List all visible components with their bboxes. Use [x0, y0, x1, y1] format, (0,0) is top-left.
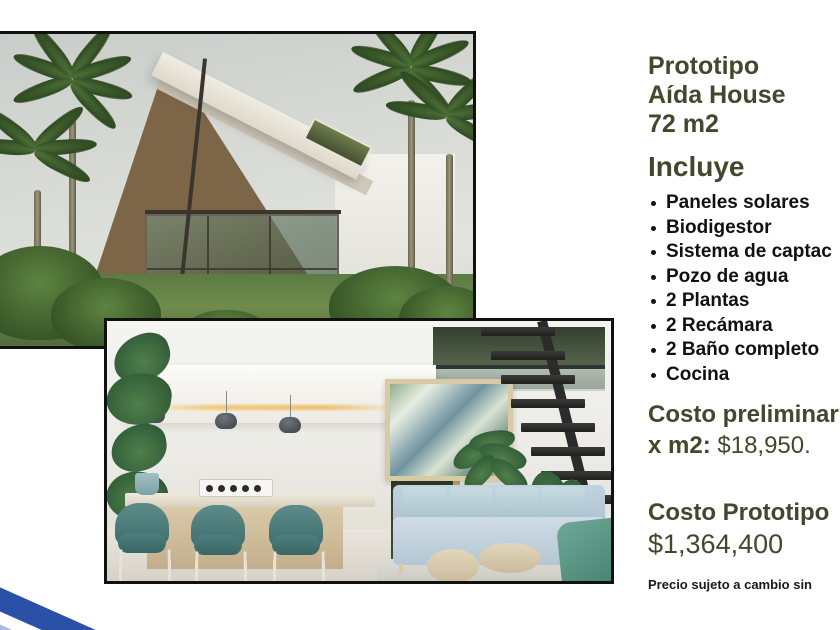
presentation-slide: Prototipo Aída House 72 m2 Incluye Panel…	[0, 0, 840, 630]
prototype-cost-heading: Costo Prototipo	[648, 497, 840, 528]
slide-text-column: Prototipo Aída House 72 m2 Incluye Panel…	[648, 52, 840, 593]
bullet-dot-icon	[651, 250, 656, 255]
prototype-title: Prototipo Aída House 72 m2	[648, 52, 840, 139]
feature-label: 2 Baño completo	[666, 339, 819, 360]
prototype-cost-block: Costo Prototipo $1,364,400	[648, 497, 840, 561]
feature-label: Cocina	[666, 364, 729, 385]
bullet-dot-icon	[651, 324, 656, 329]
list-item: Paneles solares	[648, 191, 840, 216]
title-line-3: 72 m2	[648, 110, 840, 139]
list-item: Pozo de agua	[648, 265, 840, 290]
feature-label: Paneles solares	[666, 192, 810, 213]
bullet-dot-icon	[651, 348, 656, 353]
preliminary-cost-line: x m2: $18,950.	[648, 430, 840, 461]
preliminary-cost-block: Costo preliminar x m2: $18,950.	[648, 399, 840, 461]
list-item: 2 Recámara	[648, 314, 840, 339]
list-item: Biodigestor	[648, 216, 840, 241]
list-item: 2 Plantas	[648, 289, 840, 314]
preliminary-cost-value: $18,950.	[717, 432, 810, 459]
prototype-cost-value: $1,364,400	[648, 528, 840, 561]
feature-label: Biodigestor	[666, 217, 772, 238]
feature-label: Sistema de captac	[666, 241, 832, 262]
title-line-1: Prototipo	[648, 52, 840, 81]
interior-living-image	[104, 318, 614, 584]
includes-heading: Incluye	[648, 147, 840, 187]
preliminary-cost-label: x m2:	[648, 432, 711, 459]
bullet-dot-icon	[651, 226, 656, 231]
bullet-dot-icon	[651, 299, 656, 304]
bullet-dot-icon	[651, 373, 656, 378]
price-disclaimer: Precio sujeto a cambio sin	[648, 577, 840, 593]
list-item: Cocina	[648, 363, 840, 388]
bullet-dot-icon	[651, 201, 656, 206]
exterior-house-image	[0, 31, 476, 349]
bullet-dot-icon	[651, 275, 656, 280]
features-list: Paneles solares Biodigestor Sistema de c…	[648, 191, 840, 387]
list-item: Sistema de captac	[648, 240, 840, 265]
feature-label: 2 Recámara	[666, 315, 773, 336]
list-item: 2 Baño completo	[648, 338, 840, 363]
title-line-2: Aída House	[648, 81, 840, 110]
preliminary-cost-heading: Costo preliminar	[648, 399, 840, 430]
feature-label: Pozo de agua	[666, 266, 788, 287]
feature-label: 2 Plantas	[666, 290, 749, 311]
